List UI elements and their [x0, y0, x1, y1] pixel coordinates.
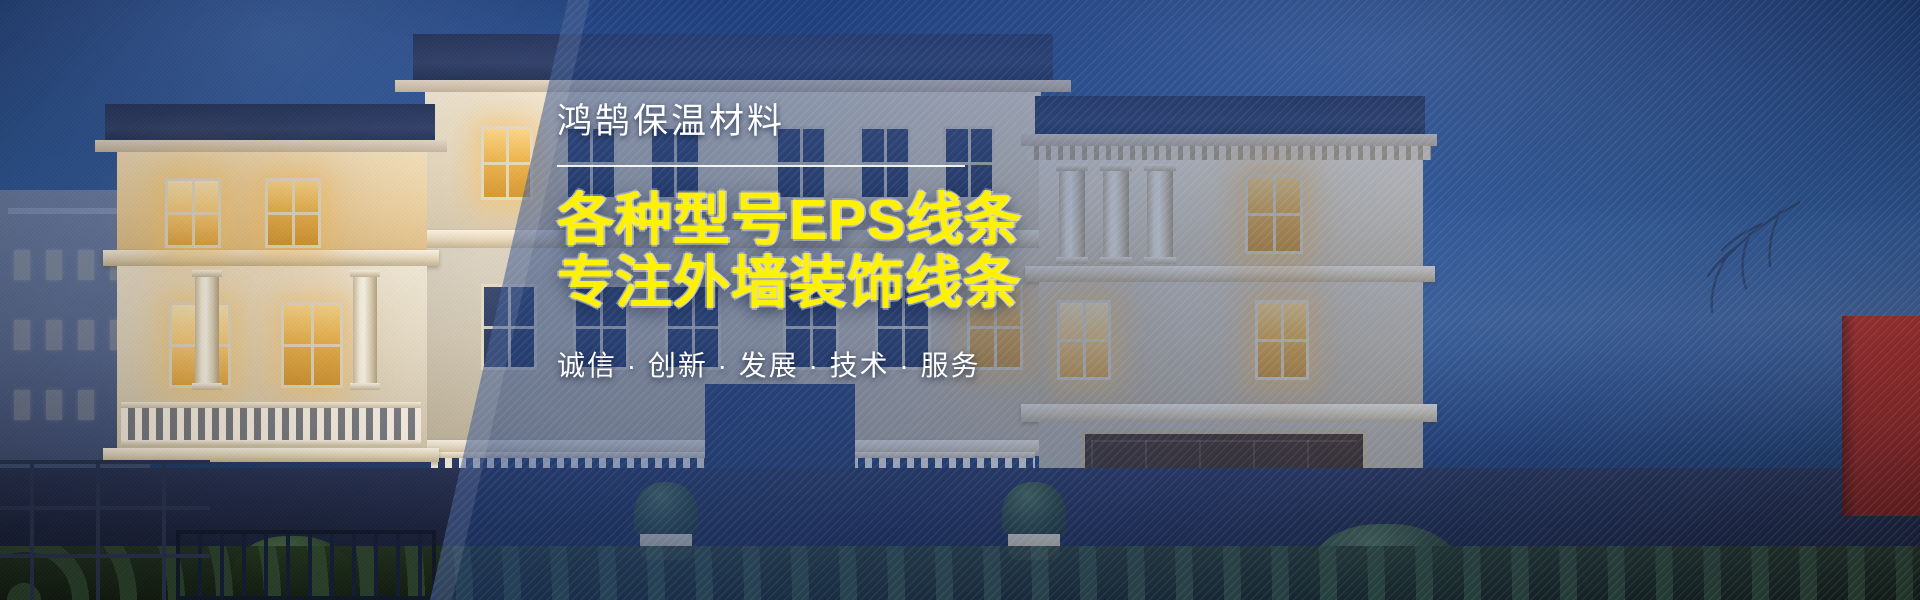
window-lit: [281, 302, 343, 388]
iron-railing: [176, 530, 436, 600]
column: [195, 270, 219, 390]
window-lit: [165, 178, 221, 248]
balustrade: [121, 402, 421, 446]
tagline: 诚信 · 创新 · 发展 · 技术 · 服务: [557, 344, 1257, 384]
scaffolding: [0, 460, 210, 600]
promotional-banner: 鸿鹄保温材料 各种型号EPS线条 专注外墙装饰线条 诚信 · 创新 · 发展 ·…: [0, 0, 1920, 600]
company-name: 鸿鹄保温材料: [557, 104, 1257, 139]
divider: [557, 165, 965, 167]
window-lit: [265, 178, 321, 248]
headline-line-1: 各种型号EPS线条: [557, 189, 1257, 252]
headline-line-2: 专注外墙装饰线条: [557, 252, 1257, 315]
column: [353, 270, 377, 390]
banner-copy: 鸿鹄保温材料 各种型号EPS线条 专注外墙装饰线条 诚信 · 创新 · 发展 ·…: [557, 104, 1257, 384]
